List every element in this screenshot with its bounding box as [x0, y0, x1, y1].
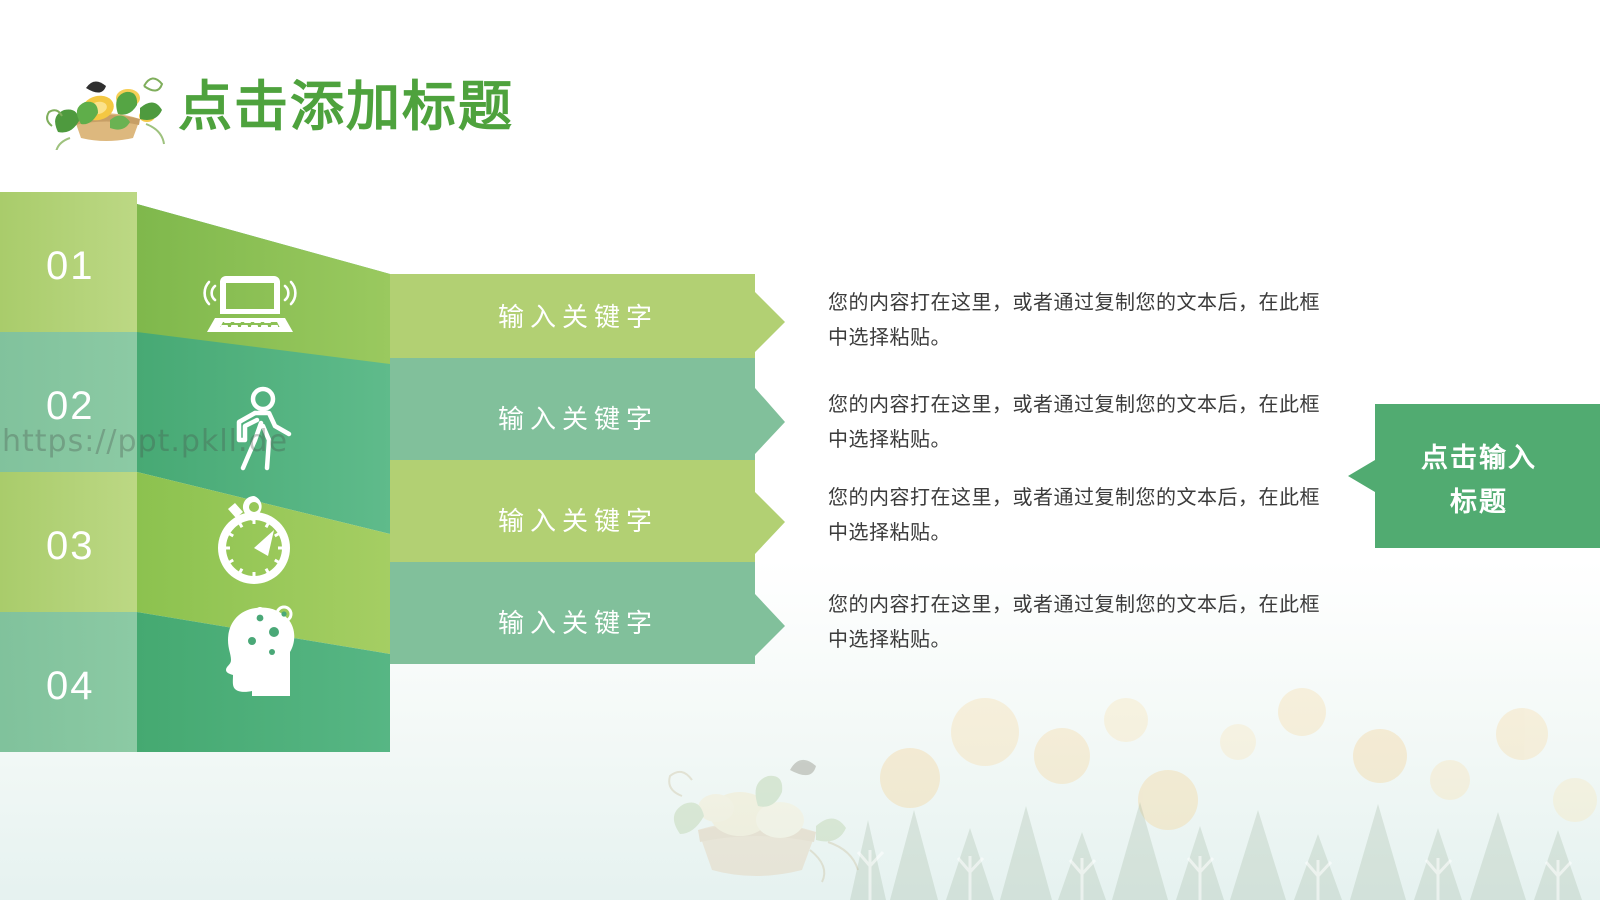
laptop-wireless-icon — [198, 254, 302, 358]
callout-label: 点击输入标题 — [1414, 436, 1544, 524]
body-paragraph-4: 您的内容打在这里，或者通过复制您的文本后，在此框中选择粘贴。 — [828, 588, 1328, 658]
row-number-4: 04 — [46, 666, 95, 706]
background-forest-art — [850, 660, 1600, 900]
head-gears-icon — [212, 592, 316, 696]
body-paragraph-1: 您的内容打在这里，或者通过复制您的文本后，在此框中选择粘贴。 — [828, 286, 1328, 356]
infographic: 01 02 03 04 — [0, 192, 800, 752]
slide-canvas: 点击添加标题 — [0, 0, 1600, 900]
keyword-label-2: 输入关键字 — [398, 406, 758, 432]
keyword-bar-column — [0, 192, 800, 752]
row-number-1: 01 — [46, 246, 95, 286]
walking-person-icon — [205, 382, 309, 486]
keyword-label-4: 输入关键字 — [398, 610, 758, 636]
body-paragraph-3: 您的内容打在这里，或者通过复制您的文本后，在此框中选择粘贴。 — [828, 481, 1328, 551]
row-number-3: 03 — [46, 526, 95, 566]
page-title: 点击添加标题 — [178, 80, 514, 134]
flower-basket-icon — [40, 64, 170, 150]
slide-title-block: 点击添加标题 — [40, 62, 514, 152]
body-paragraph-2: 您的内容打在这里，或者通过复制您的文本后，在此框中选择粘贴。 — [828, 388, 1328, 458]
row-number-2: 02 — [46, 386, 95, 426]
keyword-label-1: 输入关键字 — [398, 304, 758, 330]
callout-box[interactable]: 点击输入标题 — [1348, 404, 1600, 548]
keyword-label-3: 输入关键字 — [398, 508, 758, 534]
stopwatch-icon — [202, 486, 306, 590]
